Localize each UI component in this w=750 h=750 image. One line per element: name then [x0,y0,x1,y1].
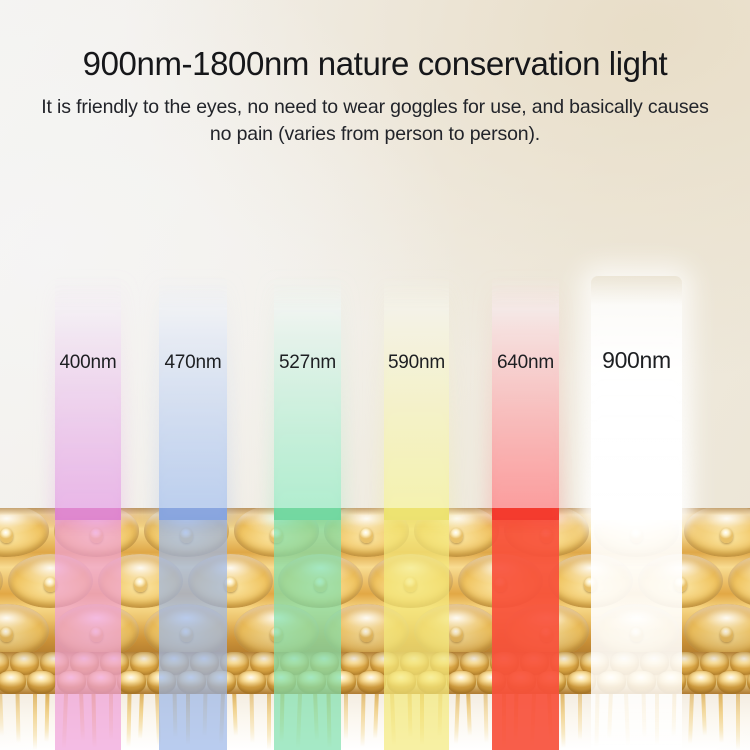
wavelength-label-590: 590nm [384,350,449,376]
wavelength-label-900: 900nm [591,347,682,373]
wavelength-label-400: 400nm [55,350,121,376]
wavelength-label-470: 470nm [159,350,227,376]
product-infographic: 400nm470nm527nm590nm640nm900nm 900nm-180… [0,0,750,750]
wavelength-label-640: 640nm [492,350,559,376]
spectrum-labels: 400nm470nm527nm590nm640nm900nm [0,0,750,750]
wavelength-label-527: 527nm [274,350,341,376]
